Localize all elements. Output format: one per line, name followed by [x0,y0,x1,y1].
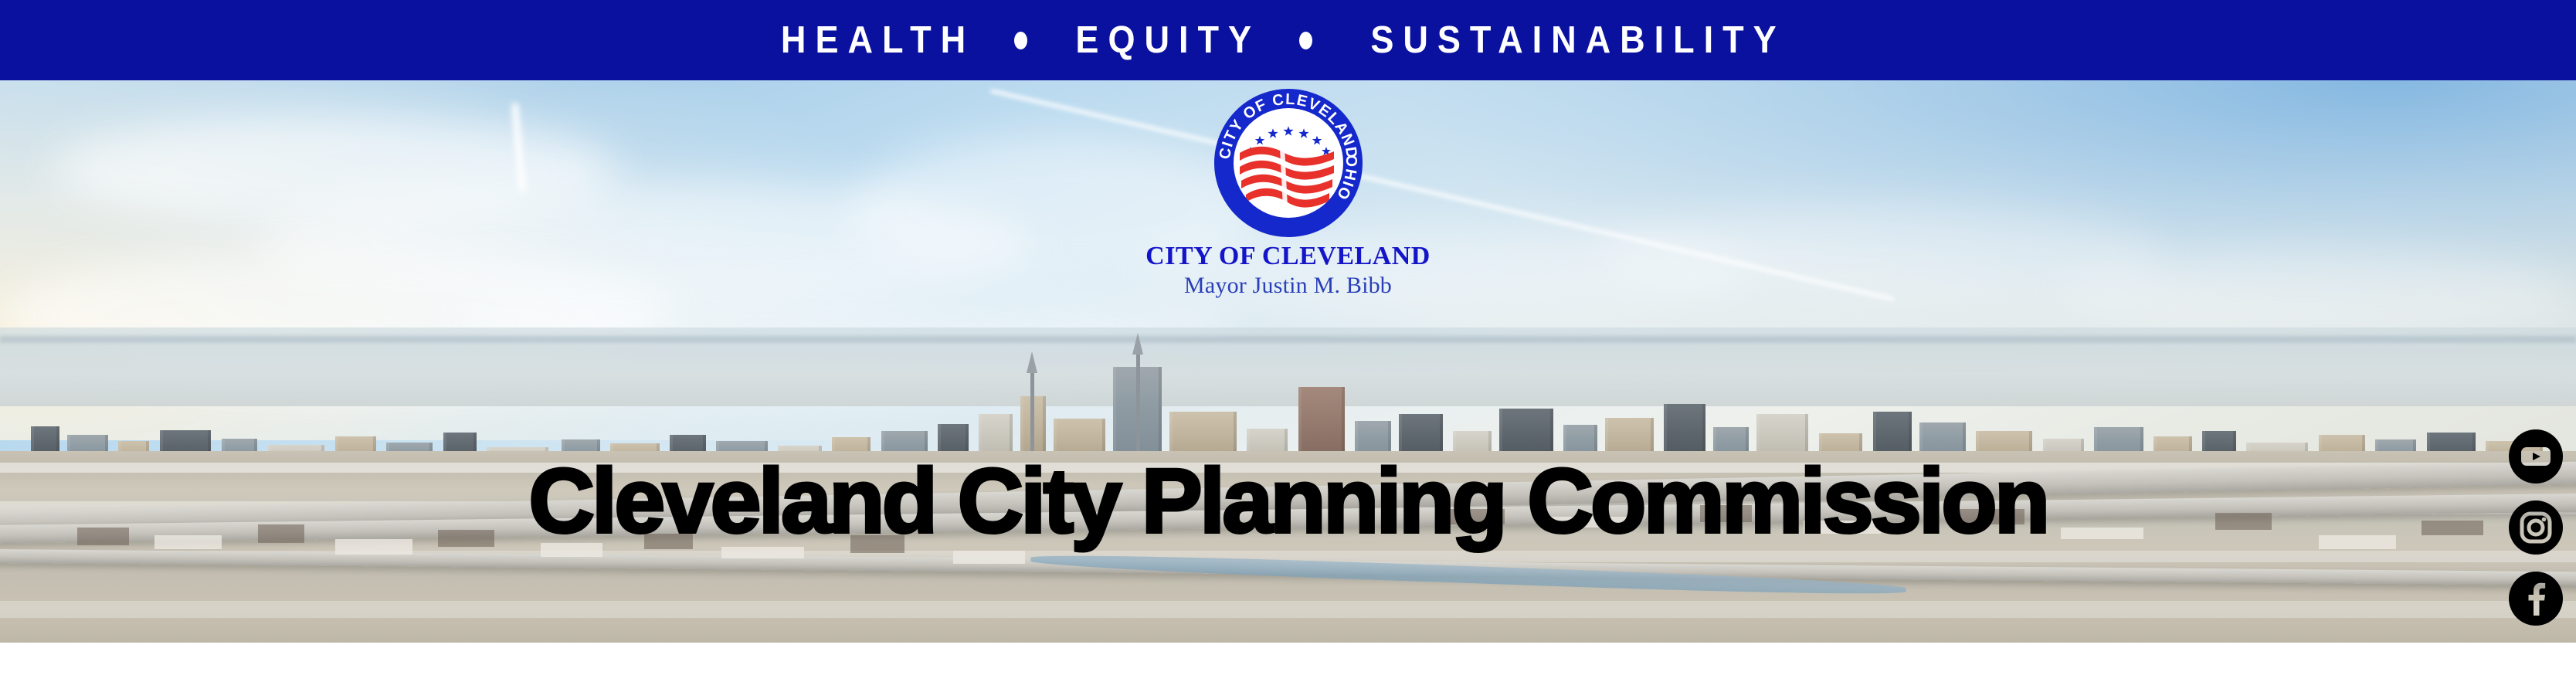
site-banner: HEALTH EQUITY SUSTAINABILITY [0,0,2576,682]
bottom-white-strip [0,643,2576,682]
facebook-icon[interactable] [2509,572,2563,626]
tagline-bar: HEALTH EQUITY SUSTAINABILITY [0,0,2576,80]
tagline-word-health: HEALTH [781,22,975,59]
tagline-word-sustainability: SUSTAINABILITY [1371,22,1786,59]
seal-inner-disc [1234,108,1343,218]
instagram-icon[interactable] [2509,500,2563,555]
page-title: Cleveland City Planning Commission [0,456,2576,547]
youtube-icon[interactable] [2509,429,2563,484]
cloud [2061,249,2576,338]
tagline-inner: HEALTH EQUITY SUSTAINABILITY [772,22,1804,59]
tagline-word-equity: EQUITY [1075,22,1261,59]
bullet-dot-icon [1299,32,1312,49]
bullet-dot-icon [1014,32,1027,49]
org-name: CITY OF CLEVELAND [1111,242,1466,270]
city-of-cleveland-seal-icon: CITY OF CLEVELAND OHIO [1214,89,1363,237]
city-logo-group[interactable]: CITY OF CLEVELAND OHIO [1111,89,1466,300]
snow-band [0,601,2576,618]
social-media-rail [2508,429,2564,626]
mayor-name: Mayor Justin M. Bibb [1111,273,1466,300]
far-shoreline [0,336,2576,343]
seal-emblem [1234,108,1343,218]
